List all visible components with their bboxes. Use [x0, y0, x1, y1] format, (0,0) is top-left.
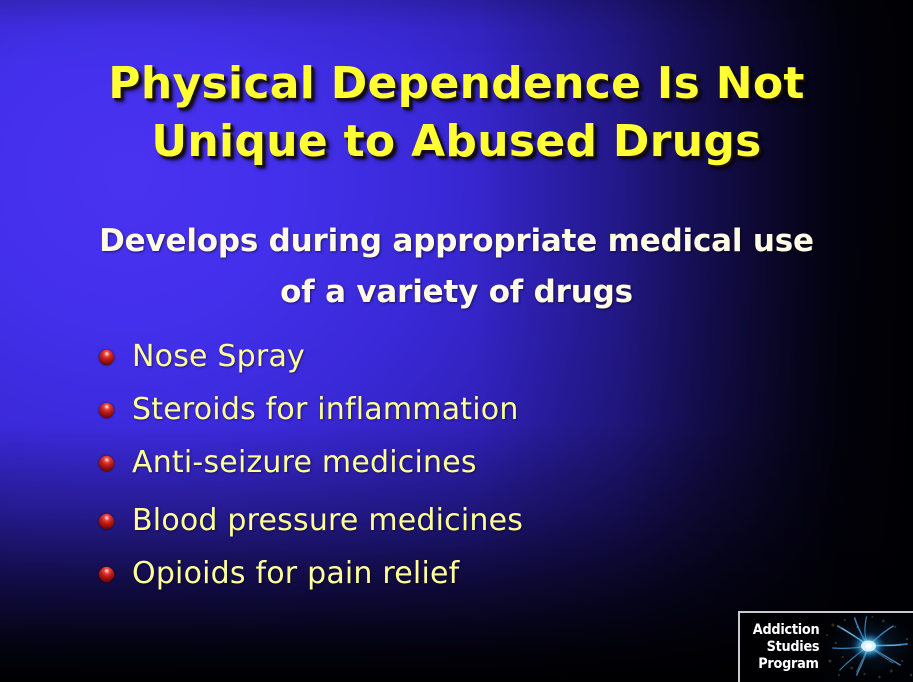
list-item-label: Opioids for pain relief — [132, 556, 459, 592]
list-item-label: Nose Spray — [132, 339, 305, 375]
red-gem-bullet-icon — [98, 566, 115, 583]
list-item: Steroids for inflammation — [98, 383, 858, 436]
red-gem-bullet-icon — [98, 349, 115, 366]
list-item-label: Steroids for inflammation — [132, 392, 519, 428]
red-gem-bullet-icon — [98, 513, 115, 530]
list-item: Opioids for pain relief — [98, 547, 858, 600]
list-item: Anti-seizure medicines — [98, 436, 858, 489]
presentation-slide: Physical Dependence Is Not Unique to Abu… — [0, 0, 913, 682]
list-item-label: Anti-seizure medicines — [132, 445, 477, 481]
glowing-neuron-icon — [824, 613, 913, 682]
slide-subtitle: Develops during appropriate medical use … — [22, 216, 891, 318]
slide-title: Physical Dependence Is Not Unique to Abu… — [0, 55, 913, 171]
list-item: Blood pressure medicines — [98, 494, 858, 547]
logo-line-1: Addiction — [752, 622, 819, 639]
bullet-list: Nose Spray Steroids for inflammation Ant… — [98, 330, 858, 600]
logo-wordmark: Addiction Studies Program — [740, 613, 824, 682]
list-item-label: Blood pressure medicines — [132, 503, 523, 539]
list-item: Nose Spray — [98, 330, 858, 383]
red-gem-bullet-icon — [98, 455, 115, 472]
slide-content: Physical Dependence Is Not Unique to Abu… — [0, 0, 913, 682]
logo-line-3: Program — [759, 656, 819, 673]
addiction-studies-program-logo: Addiction Studies Program — [738, 611, 913, 682]
red-gem-bullet-icon — [98, 402, 115, 419]
logo-line-2: Studies — [766, 639, 819, 656]
